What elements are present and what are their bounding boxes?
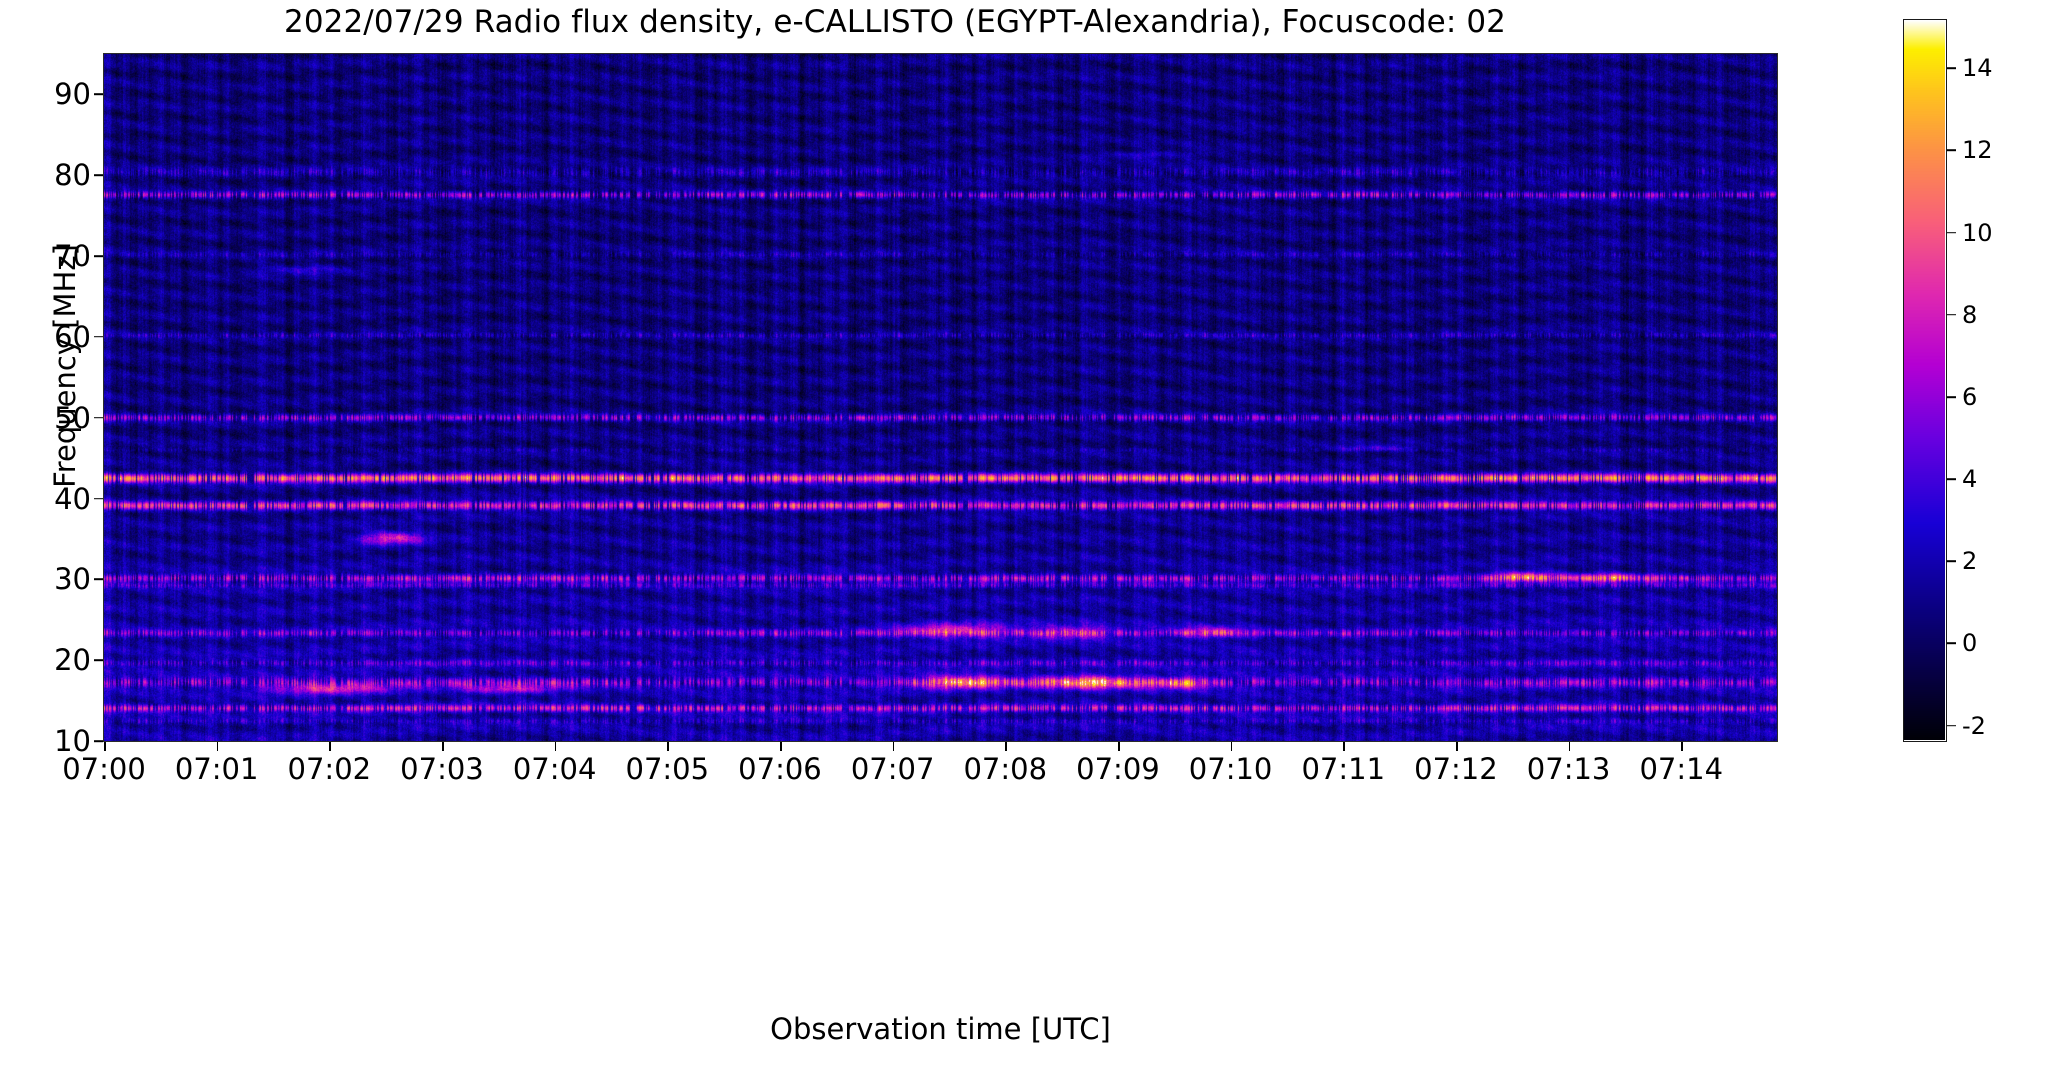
x-tick-mark: [1569, 742, 1571, 751]
x-tick-label: 07:04: [513, 752, 597, 786]
colorbar-tick-label: 6: [1962, 383, 1977, 411]
colorbar-tick-label: 0: [1962, 629, 1977, 657]
y-axis-label: Frequency [MHz]: [48, 16, 82, 716]
x-tick-label: 07:00: [62, 752, 146, 786]
colorbar-tick-mark: [1947, 67, 1956, 69]
spectrogram-image: [104, 54, 1777, 741]
x-tick-label: 07:10: [1189, 752, 1273, 786]
y-tick-mark: [94, 255, 103, 257]
colorbar-tick-mark: [1947, 560, 1956, 562]
chart-title: 2022/07/29 Radio flux density, e-CALLIST…: [0, 4, 1790, 40]
x-tick-mark: [780, 742, 782, 751]
x-tick-mark: [1118, 742, 1120, 751]
x-tick-mark: [893, 742, 895, 751]
x-tick-mark: [442, 742, 444, 751]
y-tick-label: 60: [31, 320, 91, 354]
colorbar-tick-mark: [1947, 232, 1956, 234]
x-axis-label: Observation time [UTC]: [103, 1012, 1778, 1046]
y-tick-mark: [94, 740, 103, 742]
colorbar-tick-mark: [1947, 314, 1956, 316]
y-tick-label: 80: [31, 158, 91, 192]
x-tick-mark: [1005, 742, 1007, 751]
y-tick-label: 20: [31, 643, 91, 677]
colorbar-tick-mark: [1947, 150, 1956, 152]
colorbar-tick-mark: [1947, 478, 1956, 480]
colorbar-tick-label: 14: [1962, 54, 1993, 82]
y-tick-mark: [94, 336, 103, 338]
y-tick-mark: [94, 417, 103, 419]
x-tick-label: 07:05: [626, 752, 710, 786]
x-tick-label: 07:11: [1301, 752, 1385, 786]
x-tick-mark: [217, 742, 219, 751]
figure-root: 2022/07/29 Radio flux density, e-CALLIST…: [0, 0, 2047, 1067]
y-tick-mark: [94, 174, 103, 176]
colorbar-tick-mark: [1947, 396, 1956, 398]
x-tick-mark: [329, 742, 331, 751]
x-tick-mark: [104, 742, 106, 751]
colorbar-tick-label: 12: [1962, 136, 1993, 164]
y-tick-mark: [94, 94, 103, 96]
y-tick-label: 50: [31, 401, 91, 435]
colorbar-tick-mark: [1947, 725, 1956, 727]
x-tick-mark: [667, 742, 669, 751]
x-tick-label: 07:09: [1076, 752, 1160, 786]
colorbar-tick-label: -2: [1962, 712, 1986, 740]
x-tick-label: 07:12: [1414, 752, 1498, 786]
colorbar-tick-label: 8: [1962, 301, 1977, 329]
x-tick-label: 07:14: [1639, 752, 1723, 786]
x-tick-mark: [555, 742, 557, 751]
y-tick-mark: [94, 498, 103, 500]
x-tick-label: 07:08: [963, 752, 1047, 786]
colorbar-tick-mark: [1947, 643, 1956, 645]
x-tick-label: 07:02: [288, 752, 372, 786]
y-tick-label: 70: [31, 239, 91, 273]
x-tick-label: 07:07: [851, 752, 935, 786]
x-tick-mark: [1456, 742, 1458, 751]
colorbar-gradient: [1904, 20, 1945, 740]
x-tick-mark: [1343, 742, 1345, 751]
colorbar-tick-label: 10: [1962, 219, 1993, 247]
colorbar: [1903, 19, 1947, 742]
y-tick-label: 90: [31, 77, 91, 111]
y-tick-label: 30: [31, 562, 91, 596]
x-tick-mark: [1231, 742, 1233, 751]
spectrogram-plot-area: [103, 53, 1778, 742]
y-tick-mark: [94, 579, 103, 581]
x-tick-label: 07:13: [1527, 752, 1611, 786]
x-tick-label: 07:03: [400, 752, 484, 786]
x-tick-label: 07:01: [175, 752, 259, 786]
x-tick-mark: [1681, 742, 1683, 751]
y-tick-label: 40: [31, 482, 91, 516]
colorbar-tick-label: 2: [1962, 547, 1977, 575]
colorbar-tick-label: 4: [1962, 465, 1977, 493]
x-tick-label: 07:06: [738, 752, 822, 786]
y-tick-mark: [94, 659, 103, 661]
